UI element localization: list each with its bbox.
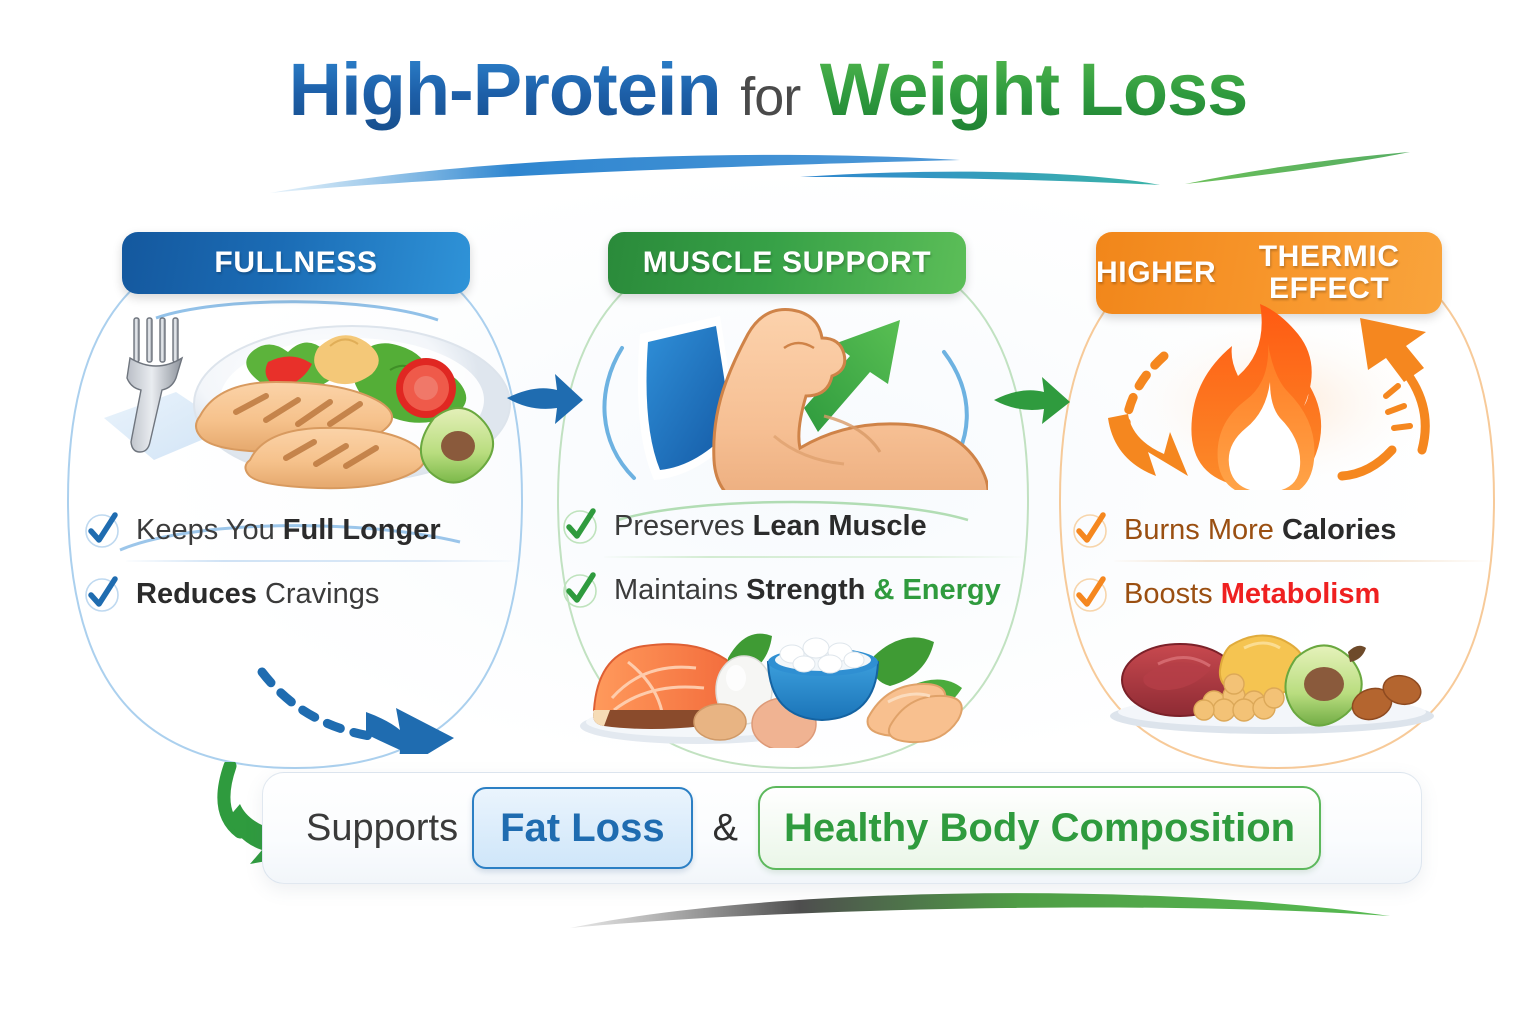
bullet-plain: Keeps You xyxy=(136,514,283,546)
bullet-bold: Reduces xyxy=(136,578,257,610)
check-icon xyxy=(1070,510,1110,550)
title-text: High-Protein for Weight Loss xyxy=(0,52,1536,129)
summary-underline-swoosh xyxy=(560,880,1460,936)
bullet-text: Keeps You Full Longer xyxy=(136,514,441,547)
check-icon xyxy=(560,506,600,546)
bullets-muscle-support: Preserves Lean Muscle Maintains Strength… xyxy=(560,498,1028,618)
bullet-item: Boosts Metabolism xyxy=(1070,566,1492,622)
arrow-col2-to-col3-icon xyxy=(992,372,1072,428)
title-part-high-protein: High-Protein xyxy=(289,48,721,131)
bullet-item: Maintains Strength & Energy xyxy=(560,562,1028,618)
grilled-chicken-salad-plate-icon xyxy=(90,300,530,490)
bullet-bold: Strength xyxy=(746,574,865,606)
bullet-plain: Boosts xyxy=(1124,578,1221,610)
page-title: High-Protein for Weight Loss xyxy=(0,52,1536,129)
bullet-text: Burns More Calories xyxy=(1124,514,1396,547)
bullet-text: Reduces Cravings xyxy=(136,578,379,611)
check-icon xyxy=(1070,574,1110,614)
bullet-bold: Lean Muscle xyxy=(753,510,927,542)
bullet-divider xyxy=(126,560,516,562)
check-icon xyxy=(82,510,122,550)
bullet-bold: Full Longer xyxy=(283,514,441,546)
bullet-plain-after: & Energy xyxy=(865,574,1000,606)
check-icon xyxy=(560,570,600,610)
bullets-fullness: Keeps You Full Longer Reduces Cravings xyxy=(82,502,520,622)
bullet-text: Boosts Metabolism xyxy=(1124,578,1380,611)
summary-row: Supports Fat Loss & Healthy Body Composi… xyxy=(306,772,1321,884)
check-icon xyxy=(82,574,122,614)
bullet-plain: Burns More xyxy=(1124,514,1282,546)
flame-metabolism-icon xyxy=(1092,300,1462,490)
bullet-plain-after: Cravings xyxy=(257,578,380,610)
title-swoosh-decoration xyxy=(0,130,1536,202)
bullet-divider xyxy=(604,556,1024,558)
bullet-item: Preserves Lean Muscle xyxy=(560,498,1028,554)
bullet-plain: Preserves xyxy=(614,510,753,542)
infographic-canvas: High-Protein for Weight Loss xyxy=(0,0,1536,1024)
meat-legumes-plate-icon xyxy=(1072,618,1472,738)
badge-muscle-support[interactable]: MUSCLE SUPPORT xyxy=(608,232,966,294)
protein-foods-tray-icon xyxy=(568,618,1008,748)
bullet-divider xyxy=(1114,560,1488,562)
summary-highlight-healthy-body-composition[interactable]: Healthy Body Composition xyxy=(758,786,1321,870)
bullet-item: Keeps You Full Longer xyxy=(82,502,520,558)
badge-line-1: HIGHER xyxy=(1096,257,1216,289)
summary-supports-label: Supports xyxy=(306,807,458,850)
bullet-item: Reduces Cravings xyxy=(82,566,520,622)
summary-bar: Supports Fat Loss & Healthy Body Composi… xyxy=(262,772,1422,884)
badge-fullness[interactable]: FULLNESS xyxy=(122,232,470,294)
bullet-item: Burns More Calories xyxy=(1070,502,1492,558)
badge-line-2: THERMIC EFFECT xyxy=(1216,241,1442,305)
bullets-thermic-effect: Burns More Calories Boosts Metabolism xyxy=(1070,502,1492,622)
column-higher-thermic-effect: HIGHER THERMIC EFFECT xyxy=(1052,220,1502,780)
summary-highlight-fat-loss[interactable]: Fat Loss xyxy=(472,787,692,869)
summary-ampersand: & xyxy=(713,807,738,850)
bullet-text: Maintains Strength & Energy xyxy=(614,574,1001,607)
bullet-text: Preserves Lean Muscle xyxy=(614,510,927,543)
title-part-weight-loss: Weight Loss xyxy=(820,48,1248,131)
dashed-arrow-down-icon xyxy=(248,664,468,754)
column-muscle-support: MUSCLE SUPPORT xyxy=(548,220,1038,780)
bullet-bold: Calories xyxy=(1282,514,1396,546)
title-part-for: for xyxy=(740,67,800,127)
bullet-plain: Maintains xyxy=(614,574,746,606)
flexing-arm-shield-arrow-icon xyxy=(588,290,988,490)
arrow-col1-to-col2-icon xyxy=(505,368,585,428)
bullet-bold: Metabolism xyxy=(1221,578,1381,610)
